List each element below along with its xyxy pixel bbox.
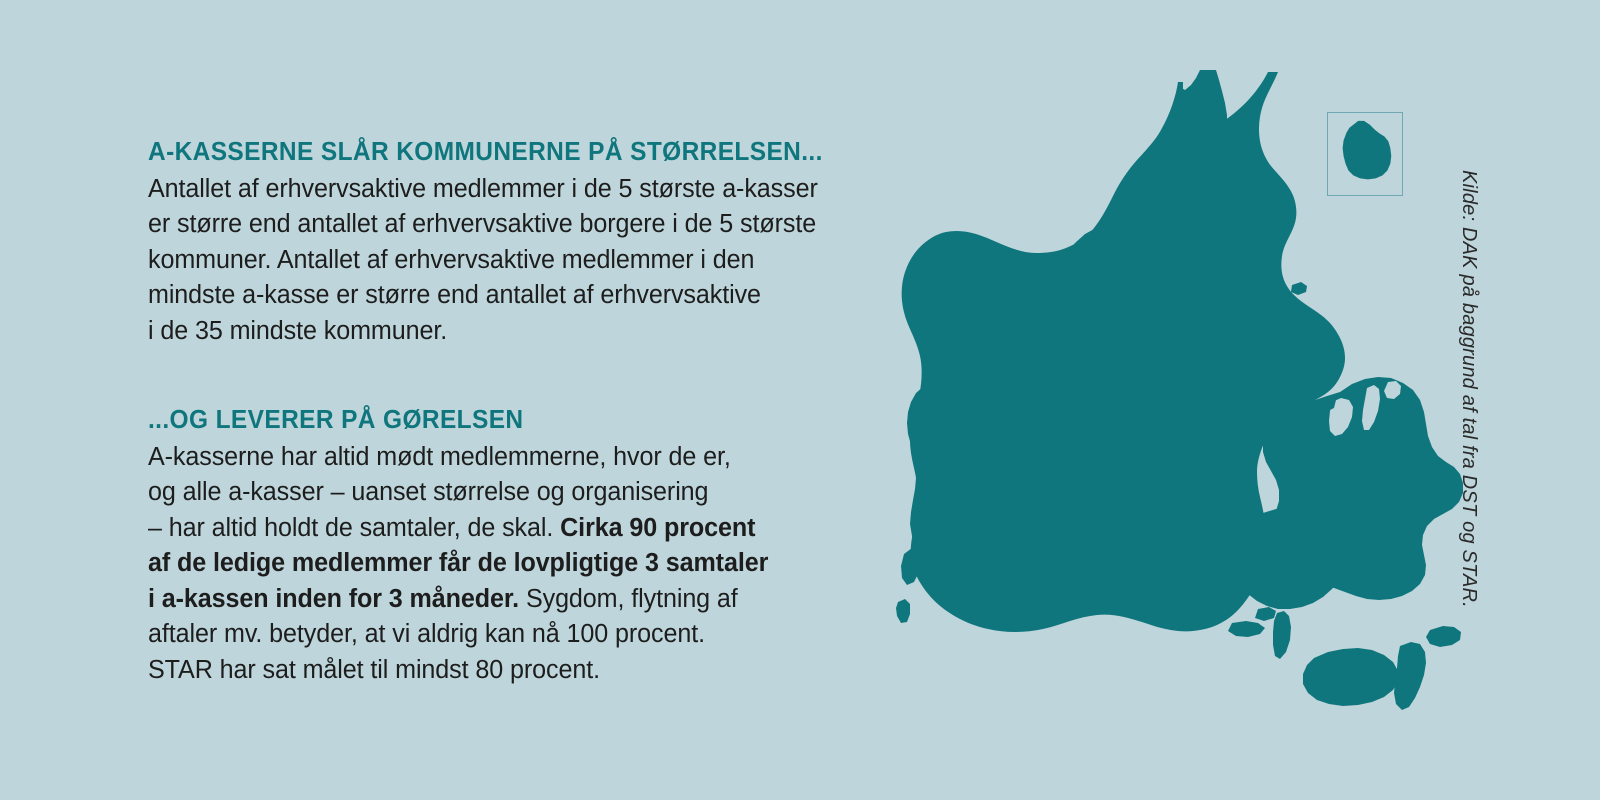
- langeland: [1273, 611, 1291, 659]
- text-column: A-KASSERNE SLÅR KOMMUNERNE PÅ STØRRELSEN…: [148, 138, 908, 688]
- block-one-body: Antallet af erhvervsaktive medlemmer i d…: [148, 172, 897, 350]
- bornholm-island: [1343, 121, 1392, 179]
- source-note: Kilde: DAK på baggrund af tal fra DST og…: [1457, 170, 1480, 608]
- bornholm-inset-box: [1327, 112, 1403, 196]
- moen: [1426, 626, 1461, 647]
- taasinge: [1255, 607, 1276, 621]
- aeroe-island: [1228, 621, 1265, 637]
- anholt: [1291, 282, 1307, 295]
- block-two-heading: ...OG LEVERER PÅ GØRELSEN: [148, 406, 878, 435]
- lolland: [1303, 648, 1398, 706]
- roemoe: [896, 599, 910, 623]
- falster: [1394, 642, 1426, 710]
- bornholm-inset-svg: [1328, 113, 1402, 195]
- text-block-two: ...OG LEVERER PÅ GØRELSEN A-kasserne har…: [148, 406, 908, 688]
- infographic-canvas: A-KASSERNE SLÅR KOMMUNERNE PÅ STØRRELSEN…: [0, 0, 1600, 800]
- block-two-body: A-kasserne har altid mødt medlemmerne, h…: [148, 440, 897, 689]
- block-one-heading: A-KASSERNE SLÅR KOMMUNERNE PÅ STØRRELSEN…: [148, 138, 878, 167]
- text-block-one: A-KASSERNE SLÅR KOMMUNERNE PÅ STØRRELSEN…: [148, 138, 908, 349]
